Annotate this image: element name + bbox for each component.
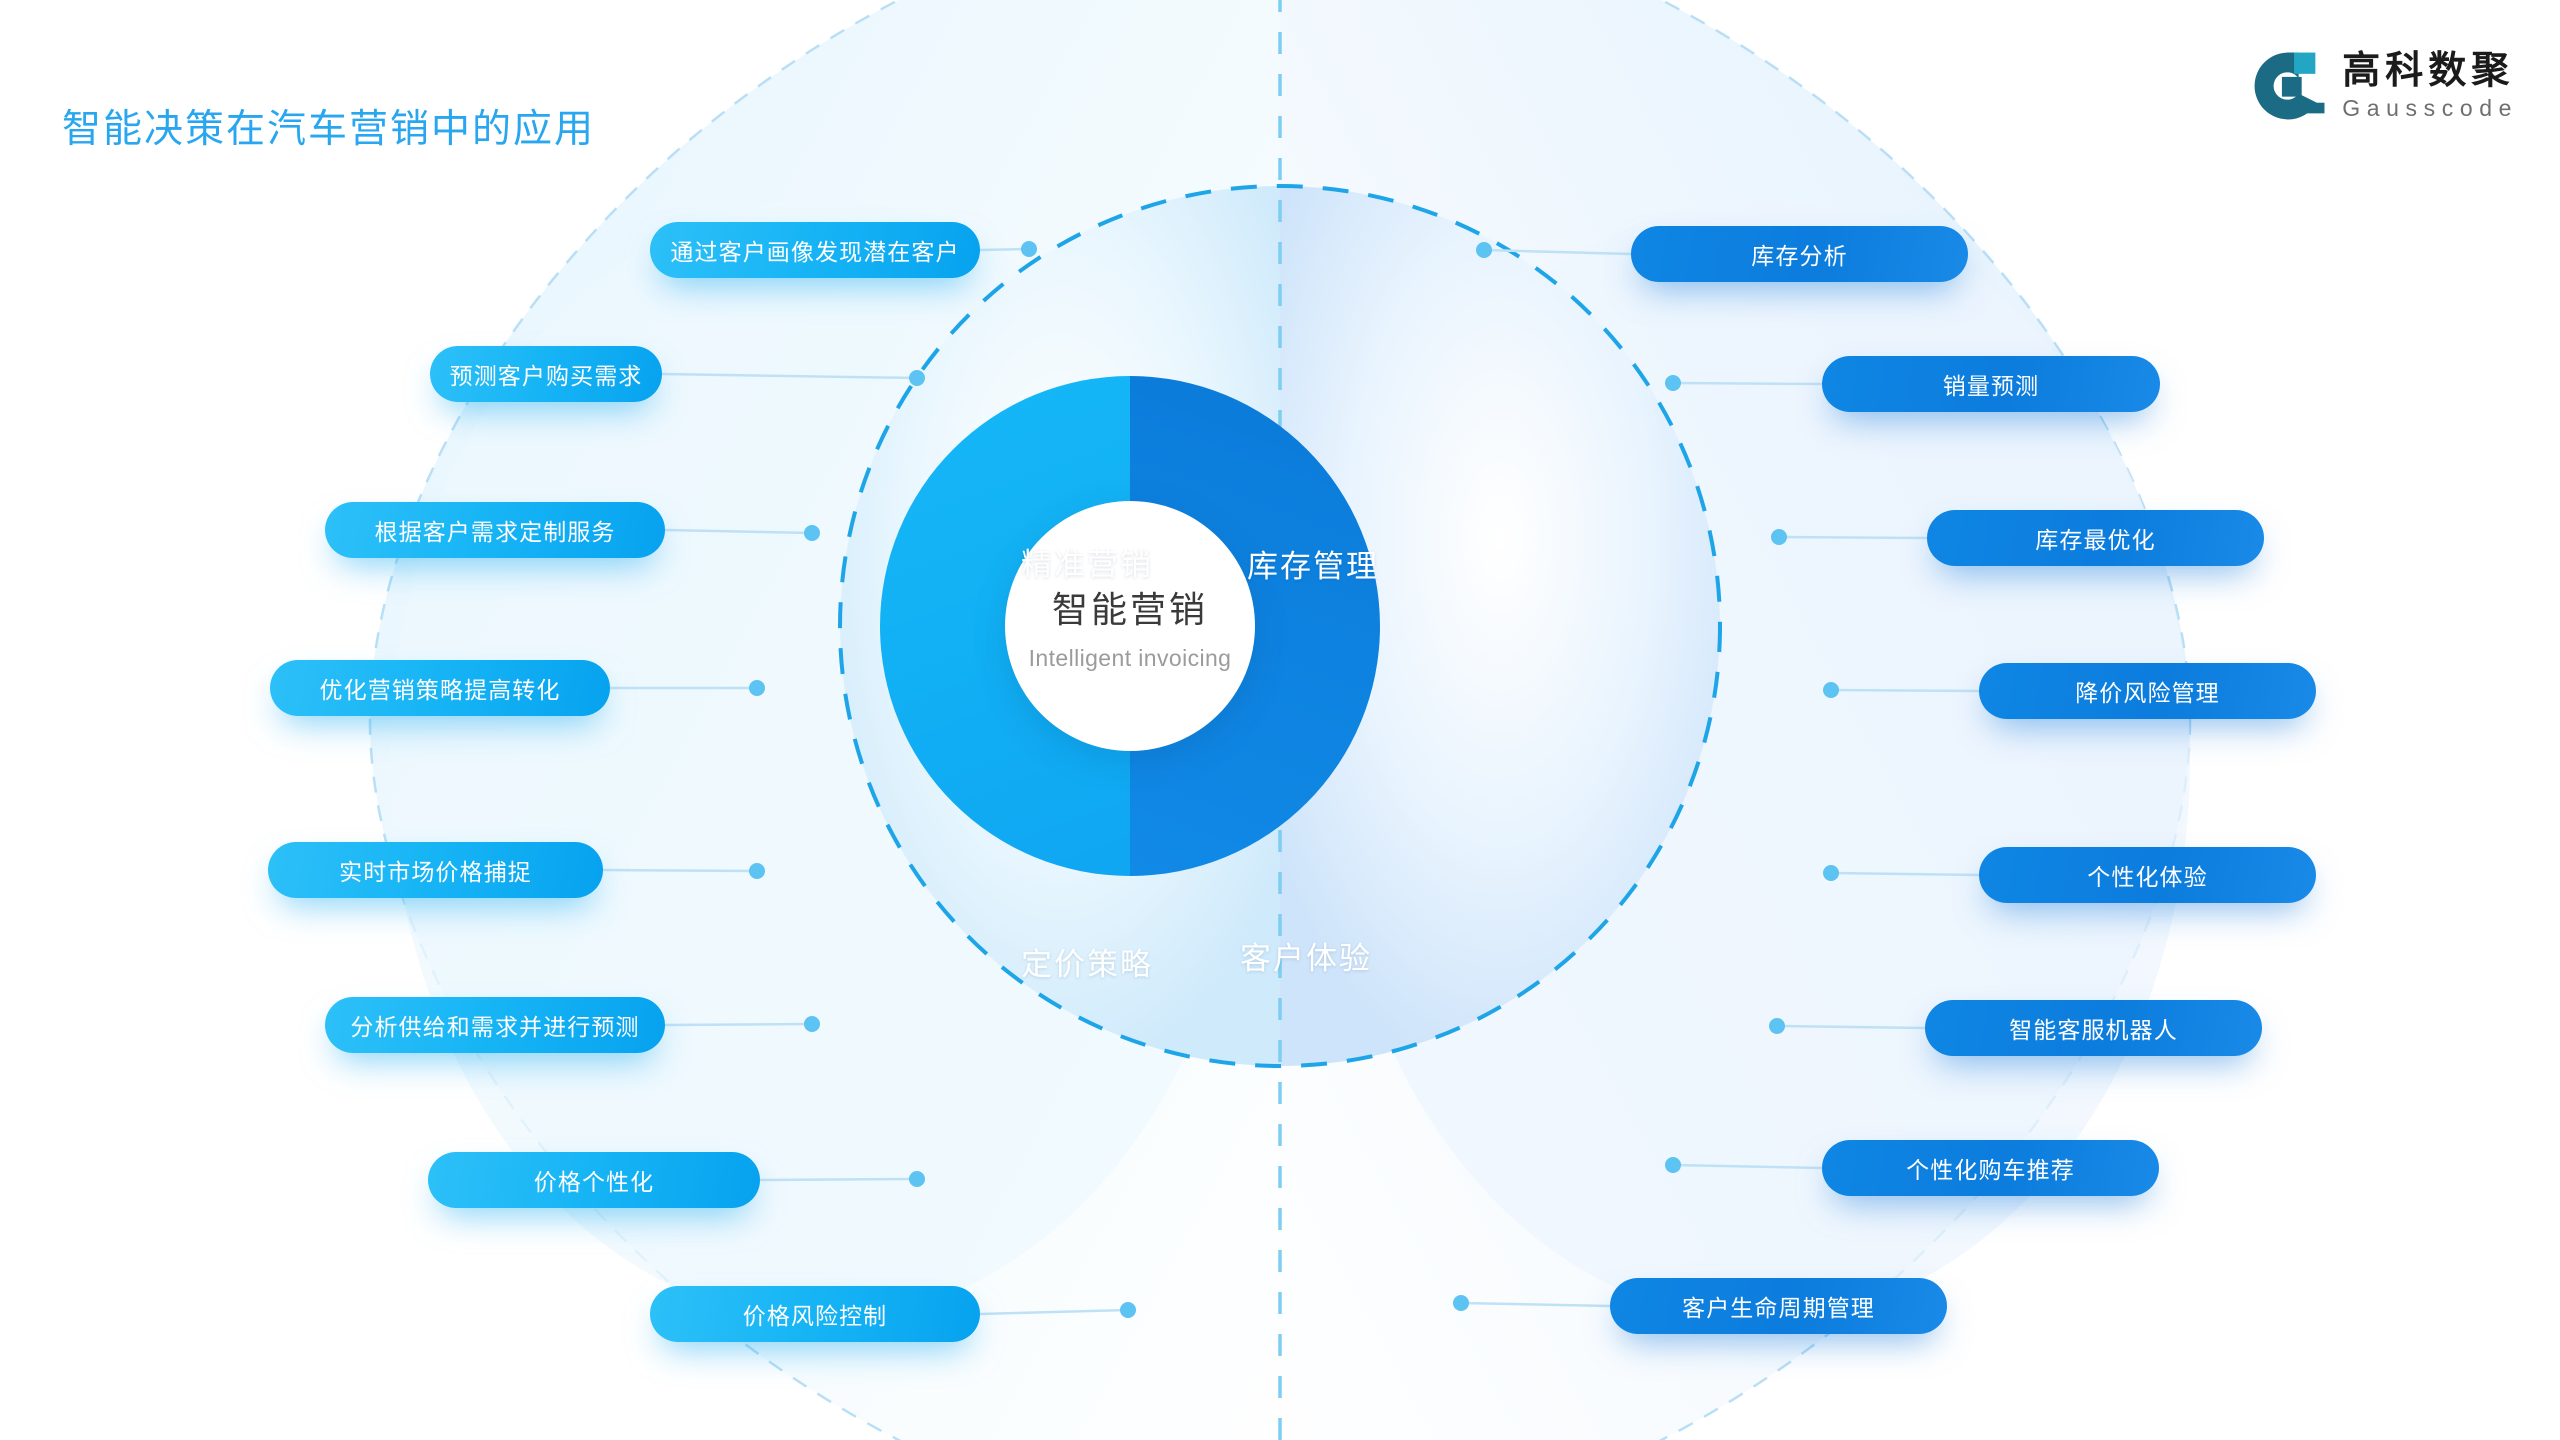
pill-right-2[interactable]: 销量预测 xyxy=(1822,356,2160,412)
pill-left-4[interactable]: 优化营销策略提高转化 xyxy=(270,660,610,716)
pill-right-7[interactable]: 个性化购车推荐 xyxy=(1822,1140,2159,1196)
pill-right-3[interactable]: 库存最优化 xyxy=(1927,510,2264,566)
pill-left-2[interactable]: 预测客户购买需求 xyxy=(430,346,662,402)
pill-left-5[interactable]: 实时市场价格捕捉 xyxy=(268,842,603,898)
brand-name-en: Gausscode xyxy=(2342,97,2518,120)
core-title-en: Intelligent invoicing xyxy=(1029,645,1232,672)
quadrant-label-pricing-strategy[interactable]: 定价策略 xyxy=(1021,939,1153,984)
gausscode-logo-icon xyxy=(2250,48,2326,124)
pill-left-8[interactable]: 价格风险控制 xyxy=(650,1286,980,1342)
quadrant-label-precision-marketing[interactable]: 精准营销 xyxy=(1021,539,1153,584)
brand-logo: 高科数聚 Gausscode xyxy=(2250,48,2518,124)
pill-left-1[interactable]: 通过客户画像发现潜在客户 xyxy=(650,222,980,278)
pill-right-1[interactable]: 库存分析 xyxy=(1631,226,1968,282)
page-title: 智能决策在汽车营销中的应用 xyxy=(62,98,595,154)
quadrant-label-customer-experience[interactable]: 客户体验 xyxy=(1240,933,1372,978)
pill-left-3[interactable]: 根据客户需求定制服务 xyxy=(325,502,665,558)
pill-right-4[interactable]: 降价风险管理 xyxy=(1979,663,2316,719)
pill-right-8[interactable]: 客户生命周期管理 xyxy=(1610,1278,1947,1334)
pill-right-6[interactable]: 智能客服机器人 xyxy=(1925,1000,2262,1056)
pill-left-6[interactable]: 分析供给和需求并进行预测 xyxy=(325,997,665,1053)
quadrant-label-inventory-management[interactable]: 库存管理 xyxy=(1247,541,1379,586)
slide-canvas: 智能决策在汽车营销中的应用 高科数聚 Gausscode 智能营销 Intell… xyxy=(0,0,2560,1440)
core-title-cn: 智能营销 xyxy=(1052,581,1208,633)
pill-left-7[interactable]: 价格个性化 xyxy=(428,1152,760,1208)
center-donut: 智能营销 Intelligent invoicing xyxy=(880,376,1380,876)
pill-right-5[interactable]: 个性化体验 xyxy=(1979,847,2316,903)
brand-name-cn: 高科数聚 xyxy=(2342,52,2518,90)
